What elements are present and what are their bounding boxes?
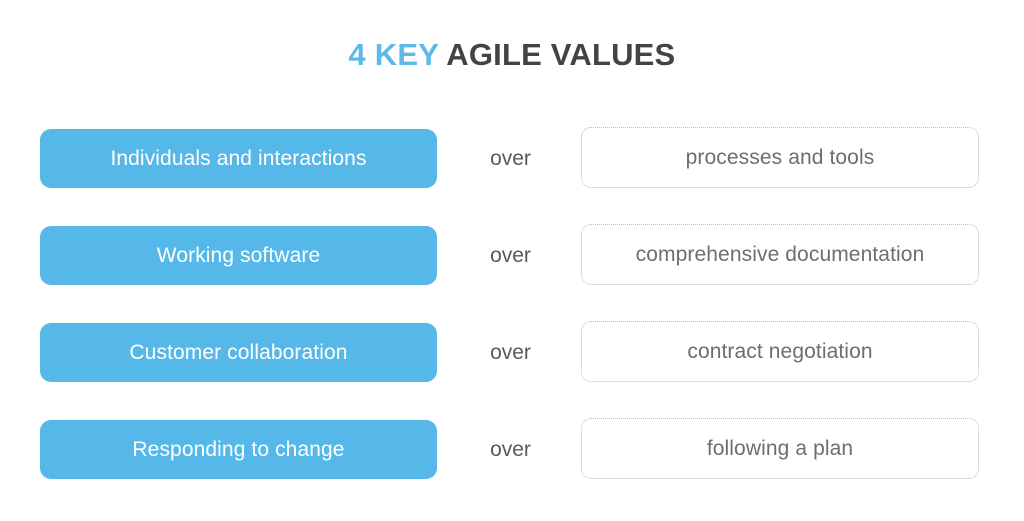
value-row: Customer collaboration over contract neg… <box>0 323 1024 382</box>
lesser-value-box-1[interactable]: processes and tools <box>581 127 979 188</box>
connector-label: over <box>490 148 531 169</box>
lesser-value-label: comprehensive documentation <box>636 244 925 265</box>
connector-1: over <box>447 129 574 188</box>
value-row: Responding to change over following a pl… <box>0 420 1024 479</box>
connector-3: over <box>447 323 574 382</box>
preferred-value-label: Responding to change <box>132 439 344 460</box>
agile-values-slide: 4 KEY AGILE VALUES Individuals and inter… <box>0 0 1024 521</box>
lesser-value-box-4[interactable]: following a plan <box>581 418 979 479</box>
preferred-value-box-2[interactable]: Working software <box>40 226 437 285</box>
lesser-value-label: processes and tools <box>686 147 875 168</box>
lesser-value-box-2[interactable]: comprehensive documentation <box>581 224 979 285</box>
page-title-accent: 4 KEY <box>349 37 439 72</box>
page-title-rest: AGILE VALUES <box>439 37 676 72</box>
connector-4: over <box>447 420 574 479</box>
preferred-value-label: Working software <box>157 245 320 266</box>
lesser-value-box-3[interactable]: contract negotiation <box>581 321 979 382</box>
lesser-value-label: contract negotiation <box>687 341 872 362</box>
lesser-value-label: following a plan <box>707 438 853 459</box>
connector-2: over <box>447 226 574 285</box>
connector-label: over <box>490 342 531 363</box>
value-row: Working software over comprehensive docu… <box>0 226 1024 285</box>
values-list: Individuals and interactions over proces… <box>0 129 1024 479</box>
preferred-value-label: Individuals and interactions <box>110 148 366 169</box>
connector-label: over <box>490 439 531 460</box>
preferred-value-box-1[interactable]: Individuals and interactions <box>40 129 437 188</box>
connector-label: over <box>490 245 531 266</box>
preferred-value-label: Customer collaboration <box>129 342 347 363</box>
preferred-value-box-4[interactable]: Responding to change <box>40 420 437 479</box>
preferred-value-box-3[interactable]: Customer collaboration <box>40 323 437 382</box>
value-row: Individuals and interactions over proces… <box>0 129 1024 188</box>
page-title: 4 KEY AGILE VALUES <box>0 34 1024 76</box>
